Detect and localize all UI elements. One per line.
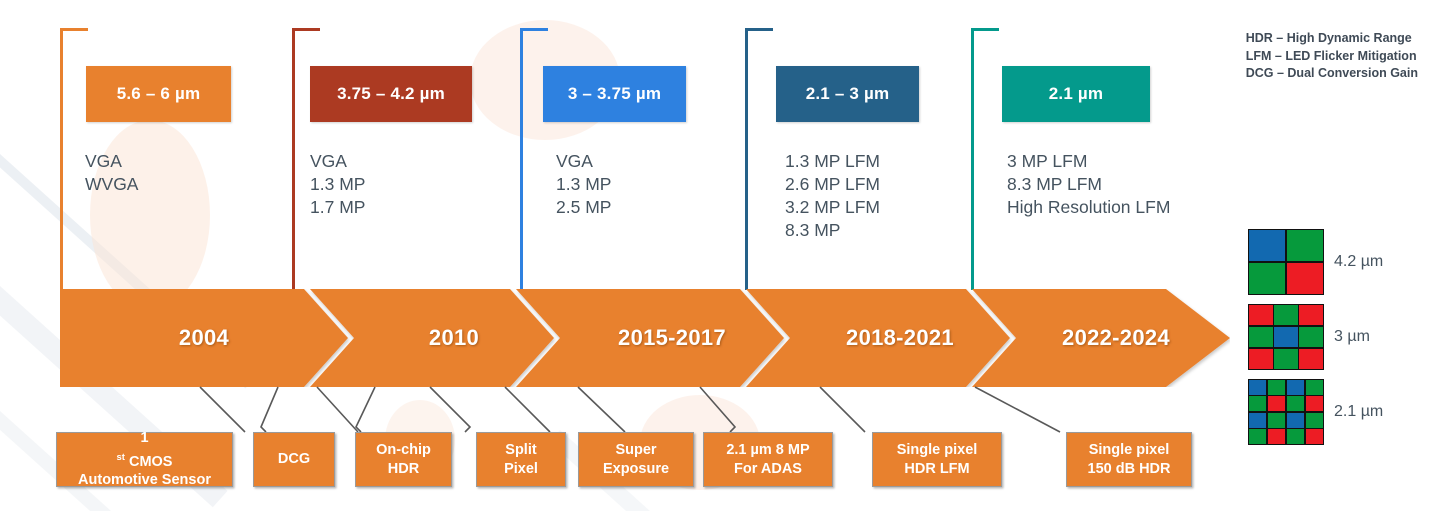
pixel-grid-4.2um <box>1248 229 1324 295</box>
legend-line: HDR – High Dynamic Range <box>1246 30 1418 48</box>
milestone-line1: Split <box>504 441 538 460</box>
era-bracket <box>60 28 88 290</box>
milestone-line2: 150 dB HDR <box>1088 460 1171 479</box>
milestone-line1: Single pixel <box>1088 441 1171 460</box>
pixel-cell-g <box>1249 429 1266 444</box>
pixel-grid-label: 3 µm <box>1334 328 1370 346</box>
milestone-box: DCG <box>253 432 335 487</box>
pixel-cell-b <box>1287 413 1304 428</box>
pixel-size-badge: 2.1 µm <box>1002 66 1150 122</box>
pixel-cell-g <box>1268 413 1285 428</box>
resolution-item: 1.3 MP <box>310 173 365 196</box>
milestone-box: 2.1 µm 8 MP For ADAS <box>703 432 833 487</box>
milestone-line1: Super <box>603 441 669 460</box>
pixel-cell-b <box>1249 380 1266 395</box>
pixel-cell-g <box>1268 380 1285 395</box>
pixel-cell-r <box>1268 429 1285 444</box>
pixel-cell-g <box>1287 429 1304 444</box>
era-bracket <box>745 28 773 290</box>
milestone-line1: On-chip <box>376 441 431 460</box>
milestone-box: Super Exposure <box>578 432 694 487</box>
pixel-cell-g <box>1299 327 1323 347</box>
pixel-cell-r <box>1287 263 1323 294</box>
milestone-line2: HDR <box>376 460 431 479</box>
pixel-cell-r <box>1299 305 1323 325</box>
pixel-cell-b <box>1287 380 1304 395</box>
milestone-box: Single pixel HDR LFM <box>872 432 1002 487</box>
pixel-cell-g <box>1287 230 1323 261</box>
milestone-box: Split Pixel <box>476 432 566 487</box>
pixel-grid-2.1um <box>1248 379 1324 445</box>
milestone-line1: 1st CMOS <box>78 429 211 472</box>
resolution-item: 3 MP LFM <box>1007 150 1170 173</box>
pixel-grid-label: 4.2 µm <box>1334 253 1383 271</box>
pixel-cell-g <box>1249 263 1285 294</box>
resolution-item: 2.5 MP <box>556 196 611 219</box>
milestone-line1: DCG <box>278 450 310 469</box>
pixel-cell-b <box>1249 413 1266 428</box>
milestone-line2: Automotive Sensor <box>78 471 211 490</box>
resolution-list: VGA WVGA <box>85 150 138 196</box>
milestone-line2: HDR LFM <box>897 460 978 479</box>
milestone-line1: Single pixel <box>897 441 978 460</box>
pixel-cell-g <box>1274 305 1298 325</box>
era-bracket <box>971 28 999 290</box>
milestone-line2: For ADAS <box>726 460 809 479</box>
resolution-item: VGA <box>556 150 611 173</box>
milestone-box: Single pixel 150 dB HDR <box>1066 432 1192 487</box>
resolution-item: 1.3 MP <box>556 173 611 196</box>
pixel-cell-r <box>1268 396 1285 411</box>
milestone-line1: 2.1 µm 8 MP <box>726 441 809 460</box>
milestone-line2: Pixel <box>504 460 538 479</box>
pixel-cell-r <box>1299 349 1323 369</box>
resolution-item: VGA <box>85 150 138 173</box>
pixel-cell-g <box>1306 380 1323 395</box>
milestone-box: 1st CMOS Automotive Sensor <box>56 432 233 487</box>
pixel-cell-b <box>1249 230 1285 261</box>
milestone-line2: Exposure <box>603 460 669 479</box>
legend-line: DCG – Dual Conversion Gain <box>1246 65 1418 83</box>
legend-line: LFM – LED Flicker Mitigation <box>1246 48 1418 66</box>
pixel-cell-r <box>1306 429 1323 444</box>
pixel-cell-g <box>1287 396 1304 411</box>
pixel-cell-g <box>1274 349 1298 369</box>
pixel-size-badge: 5.6 – 6 µm <box>86 66 231 122</box>
pixel-grid-label: 2.1 µm <box>1334 403 1383 421</box>
pixel-size-badge: 3.75 – 4.2 µm <box>310 66 472 122</box>
pixel-cell-r <box>1249 349 1273 369</box>
pixel-size-badge: 2.1 – 3 µm <box>776 66 919 122</box>
timeline-arrow-banner <box>60 289 1230 387</box>
resolution-item: WVGA <box>85 173 138 196</box>
resolution-item: 1.3 MP LFM <box>785 150 880 173</box>
resolution-list: VGA 1.3 MP 1.7 MP <box>310 150 365 219</box>
resolution-list: 1.3 MP LFM 2.6 MP LFM 3.2 MP LFM 8.3 MP <box>785 150 880 242</box>
pixel-cell-g <box>1249 396 1266 411</box>
resolution-list: VGA 1.3 MP 2.5 MP <box>556 150 611 219</box>
resolution-list: 3 MP LFM 8.3 MP LFM High Resolution LFM <box>1007 150 1170 219</box>
resolution-item: High Resolution LFM <box>1007 196 1170 219</box>
pixel-cell-g <box>1249 327 1273 347</box>
resolution-item: VGA <box>310 150 365 173</box>
resolution-item: 2.6 MP LFM <box>785 173 880 196</box>
resolution-item: 1.7 MP <box>310 196 365 219</box>
pixel-cell-r <box>1249 305 1273 325</box>
timeline-infographic: 5.6 – 6 µm VGA WVGA 3.75 – 4.2 µm VGA 1.… <box>0 0 1430 511</box>
resolution-item: 3.2 MP LFM <box>785 196 880 219</box>
pixel-grid-3um <box>1248 304 1324 370</box>
pixel-size-badge: 3 – 3.75 µm <box>543 66 686 122</box>
pixel-cell-g <box>1306 413 1323 428</box>
resolution-item: 8.3 MP LFM <box>1007 173 1170 196</box>
milestone-box: On-chip HDR <box>355 432 452 487</box>
pixel-cell-r <box>1306 396 1323 411</box>
abbreviation-legend: HDR – High Dynamic Range LFM – LED Flick… <box>1246 30 1418 83</box>
resolution-item: 8.3 MP <box>785 219 880 242</box>
pixel-cell-b <box>1274 327 1298 347</box>
